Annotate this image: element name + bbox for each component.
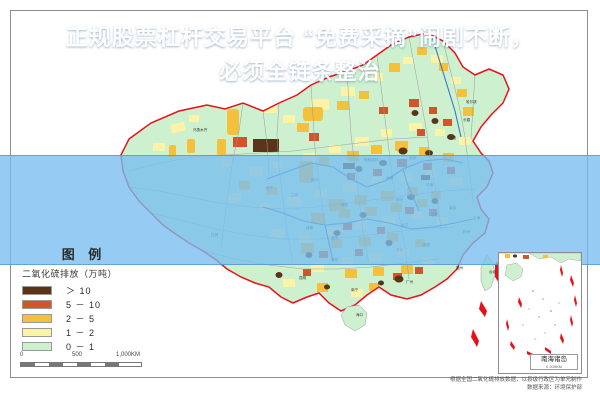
- city-label: 长春: [463, 117, 471, 122]
- legend-label-2-5: 2 － 5: [66, 312, 95, 325]
- city-label: 海口: [356, 312, 364, 317]
- legend-row: 2 － 5: [22, 312, 138, 325]
- scale-tick-1000: 1,000KM: [116, 352, 140, 358]
- city-label: 福州: [456, 265, 464, 270]
- inset-title: 南海诸岛: [541, 356, 567, 363]
- city-label: 沈阳: [449, 135, 457, 140]
- map-attribution: 根据全国二氧化硫排放数据，以县级行政区为单元制作 数据来源：环境保护部: [450, 376, 582, 392]
- legend-title: 图 例: [30, 244, 138, 263]
- city-label: 台北: [489, 269, 497, 274]
- legend-label-1-2: 1 － 2: [66, 326, 95, 339]
- inset-title-box: 南海诸岛 0 200KM: [530, 354, 578, 370]
- scale-tick-500: 500: [72, 352, 82, 358]
- attribution-line-1: 根据全国二氧化硫排放数据，以县级行政区为单元制作: [450, 376, 582, 384]
- city-label: 乌鲁木齐: [193, 127, 208, 132]
- legend-swatch-5-10: [22, 300, 52, 309]
- headline-text-block: 正规股票杠杆交易平台 “免费采摘”闹剧不断， 必须全链条整治: [0, 0, 600, 110]
- legend-row: ＞ 10: [22, 284, 138, 297]
- city-label: 广州: [406, 279, 414, 284]
- legend-swatch-gt10: [22, 286, 52, 295]
- scale-tick-0: 0: [20, 352, 23, 358]
- map-scale-bar: 0 500 1,000KM: [20, 352, 142, 367]
- legend-swatch-2-5: [22, 314, 52, 323]
- map-legend: 图 例 二氧化硫排放（万吨） ＞ 10 5 － 10 2 － 5 1 － 2 0…: [22, 244, 138, 354]
- scale-tick-labels: 0 500 1,000KM: [20, 352, 142, 361]
- legend-swatch-1-2: [22, 328, 52, 337]
- city-label: 昆明: [299, 275, 307, 280]
- headline-line-1: 正规股票杠杆交易平台 “免费采摘”闹剧不断，: [66, 21, 534, 55]
- legend-label-5-10: 5 － 10: [66, 298, 101, 311]
- legend-subtitle: 二氧化硫排放（万吨）: [22, 267, 138, 280]
- legend-row: 1 － 2: [22, 326, 138, 339]
- map-screenshot: 乌鲁木齐哈尔滨长春沈阳北京呼和浩特银川西宁兰州太原济南郑州西安合肥南京上海武汉成…: [0, 0, 600, 400]
- scale-track: [20, 362, 142, 367]
- attribution-line-2: 数据来源：环境保护部: [450, 384, 582, 392]
- south-china-sea-inset: 南海诸岛 0 200KM: [498, 252, 582, 374]
- headline-line-2: 必须全链条整治: [219, 55, 380, 89]
- city-label: 南宁: [351, 287, 359, 292]
- legend-swatch-0-1: [22, 342, 52, 351]
- legend-items: ＞ 10 5 － 10 2 － 5 1 － 2 0 － 1: [22, 284, 138, 353]
- inset-scale: 0 200KM: [531, 364, 577, 369]
- legend-row: 5 － 10: [22, 298, 138, 311]
- legend-label-gt10: ＞ 10: [66, 284, 92, 297]
- banner-top-rule: [0, 155, 600, 156]
